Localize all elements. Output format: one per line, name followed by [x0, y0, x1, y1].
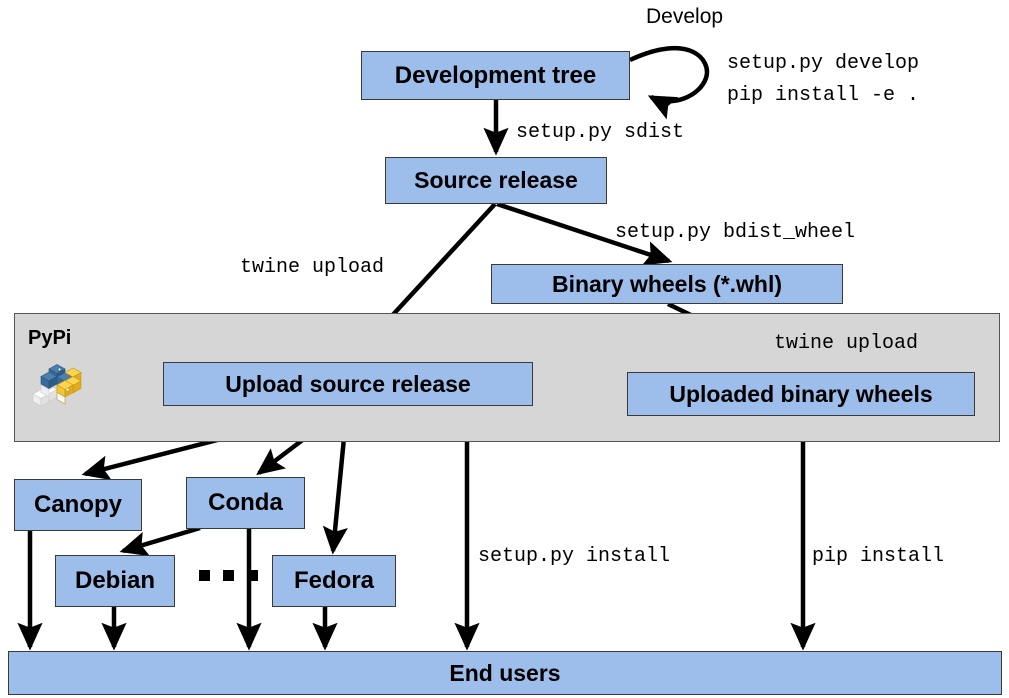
node-development-tree[interactable]: Development tree [361, 51, 630, 100]
diagram-canvas: PyPi [0, 0, 1009, 698]
node-fedora[interactable]: Fedora [272, 555, 396, 607]
edge-label-setup-py-sdist: setup.py sdist [516, 121, 684, 144]
edge-label-setup-py-install: setup.py install [478, 545, 670, 568]
node-end-users[interactable]: End users [8, 651, 1002, 695]
pypi-group-label: PyPi [28, 327, 71, 350]
node-binary-wheels[interactable]: Binary wheels (*.whl) [491, 264, 843, 304]
edge-label-setup-py-develop: setup.py develop [727, 52, 919, 75]
edge-label-pip-install-editable: pip install -e . [727, 84, 919, 107]
node-debian[interactable]: Debian [55, 555, 175, 607]
python-logo-icon [29, 356, 85, 410]
node-canopy[interactable]: Canopy [14, 479, 142, 531]
node-upload-source-release[interactable]: Upload source release [163, 362, 533, 406]
node-uploaded-binary-wheels[interactable]: Uploaded binary wheels [627, 372, 975, 416]
edge-develop-self-loop [630, 48, 707, 101]
more-distros-ellipsis-icon [199, 570, 258, 581]
node-source-release[interactable]: Source release [385, 157, 607, 204]
node-conda[interactable]: Conda [186, 477, 305, 529]
edge-label-develop: Develop [646, 5, 723, 29]
edge-label-setup-py-bdist-wheel: setup.py bdist_wheel [615, 221, 855, 244]
edge-label-twine-upload-source: twine upload [240, 256, 384, 279]
edge-conda-to-debian [123, 528, 200, 551]
edge-label-twine-upload-wheels: twine upload [774, 332, 918, 355]
edge-label-pip-install: pip install [812, 545, 944, 568]
